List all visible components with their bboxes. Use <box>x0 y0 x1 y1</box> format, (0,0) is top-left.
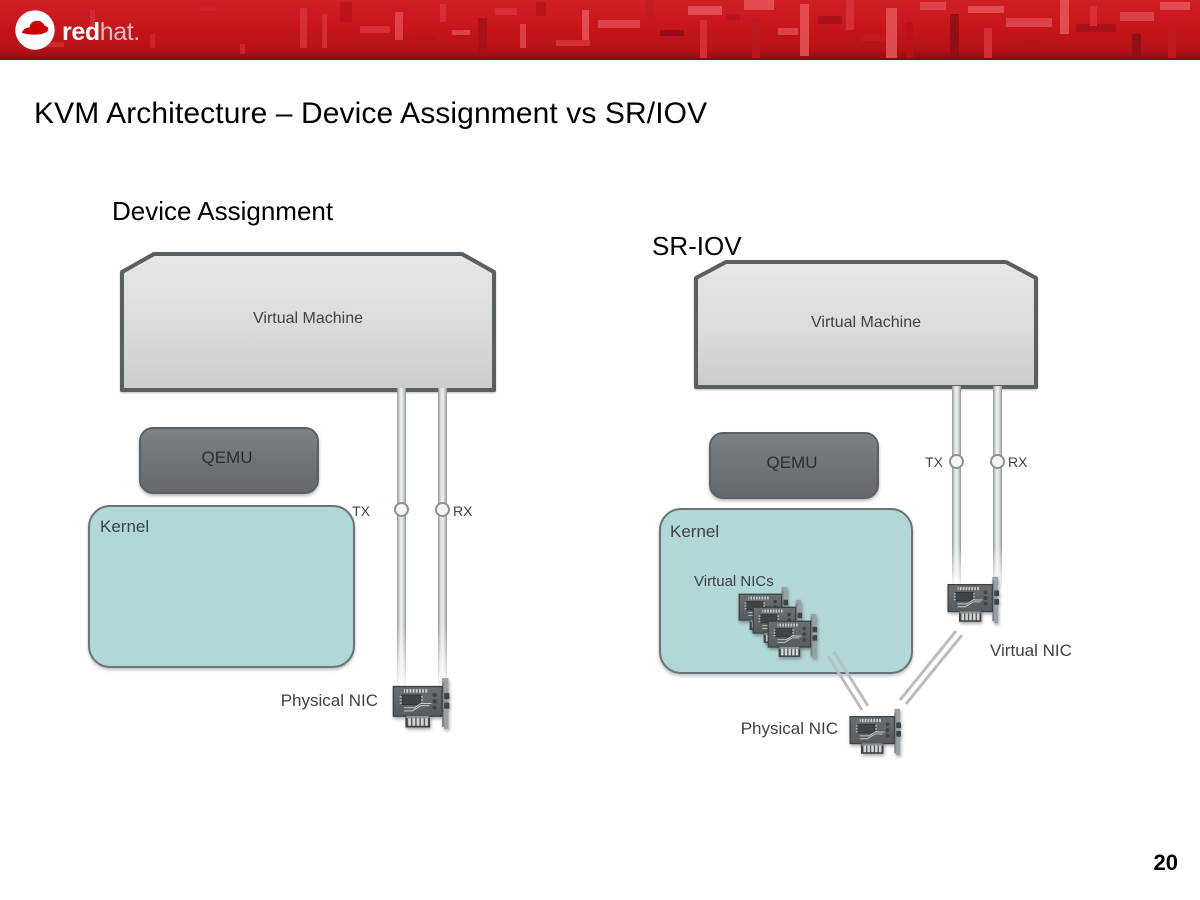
header-bottom-edge <box>0 58 1200 60</box>
left-tx-label: TX <box>352 503 370 519</box>
left-kernel-label: Kernel <box>100 517 149 537</box>
left-rx-label: RX <box>453 503 472 519</box>
left-rx-pipe <box>438 388 447 693</box>
right-rx-port-ring <box>990 454 1005 469</box>
slide-title: KVM Architecture – Device Assignment vs … <box>34 97 707 131</box>
right-virtual-nic-label: Virtual NIC <box>990 641 1072 661</box>
left-virtual-machine-label: Virtual Machine <box>118 310 498 328</box>
right-tx-port-ring <box>949 454 964 469</box>
right-rx-label: RX <box>1008 454 1027 470</box>
slide-canvas: redhat. KVM Architecture – Device Assign… <box>0 0 1200 900</box>
right-physical-nic-label: Physical NIC <box>741 719 838 739</box>
left-physical-nic-icon <box>389 676 457 731</box>
left-qemu-label: QEMU <box>139 448 315 468</box>
wordmark-red: red <box>62 18 100 46</box>
right-virtual-nic-icon <box>944 575 1006 625</box>
right-virtual-machine-label: Virtual Machine <box>692 314 1040 332</box>
right-kernel-label: Kernel <box>670 522 719 542</box>
right-rx-pipe <box>993 386 1002 591</box>
left-tx-pipe <box>397 388 406 693</box>
right-tx-label: TX <box>925 454 943 470</box>
left-tx-port-ring <box>394 502 409 517</box>
header-decorative-pattern <box>0 0 1200 58</box>
left-physical-nic-label: Physical NIC <box>281 691 378 711</box>
left-rx-port-ring <box>435 502 450 517</box>
right-qemu-label: QEMU <box>709 453 875 473</box>
section-heading-device-assignment: Device Assignment <box>112 196 333 227</box>
brand-header-band: redhat. <box>0 0 1200 60</box>
right-physical-nic-icon <box>846 707 908 757</box>
redhat-logo: redhat. <box>14 9 140 51</box>
redhat-shadowman-icon <box>14 9 56 51</box>
redhat-wordmark: redhat. <box>62 20 140 45</box>
right-tx-pipe <box>952 386 961 591</box>
page-number: 20 <box>1154 850 1178 876</box>
right-virtual-nic-stack-icon-3 <box>764 612 824 660</box>
wordmark-hat: hat. <box>100 18 140 46</box>
